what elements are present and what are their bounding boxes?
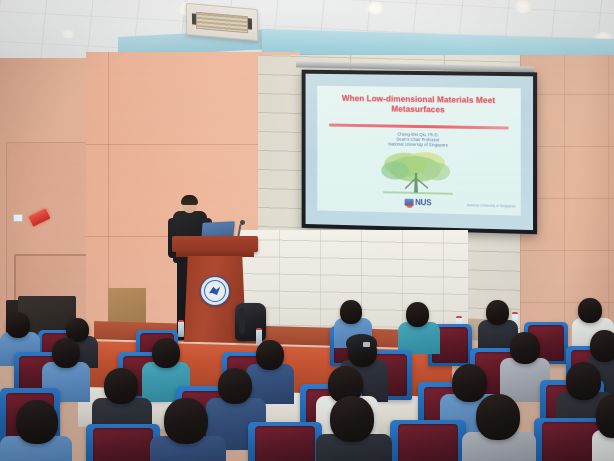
slide-corner-note: National University of Singapore <box>467 203 516 208</box>
nus-logo-text: NUS <box>415 198 431 207</box>
attendee-head <box>52 338 80 368</box>
attendee-head <box>406 302 429 327</box>
attendee-head <box>476 394 520 440</box>
attendee-head <box>218 368 252 404</box>
chair-cushion <box>398 424 459 461</box>
screen-surface: When Low-dimensional Materials Meet Meta… <box>306 74 533 230</box>
water-bottle-icon <box>178 320 184 337</box>
university-emblem-icon <box>200 276 230 306</box>
ceiling-spotlight <box>60 30 76 38</box>
chair-cushion <box>255 426 314 461</box>
microphone-icon <box>240 220 245 225</box>
slide-divider-rule <box>329 124 509 130</box>
attendee-head <box>590 330 614 362</box>
attendee-head <box>164 398 208 444</box>
lecture-hall-photo: When Low-dimensional Materials Meet Meta… <box>0 0 614 461</box>
presentation-slide: When Low-dimensional Materials Meet Meta… <box>317 86 521 216</box>
auditorium-chair <box>390 420 466 461</box>
chair-cushion <box>93 428 152 461</box>
cap-logo <box>363 342 370 347</box>
backpack-strap <box>239 308 245 334</box>
attendee-head <box>152 338 180 368</box>
baseball-cap-icon <box>346 334 377 352</box>
ceiling-spotlight <box>512 0 534 13</box>
auditorium-chair <box>86 424 160 461</box>
attendee-head <box>452 364 487 402</box>
ceiling-air-conditioner-icon <box>186 3 259 41</box>
attendee-head <box>340 300 362 324</box>
lectern-lip <box>176 250 254 257</box>
attendee-head <box>578 298 602 323</box>
tree-illustration-icon <box>375 148 461 198</box>
attendee-head <box>6 312 30 338</box>
ac-vent <box>192 13 196 24</box>
wall-plate <box>13 214 23 222</box>
attendee-head <box>330 396 374 442</box>
presenter-hair <box>181 195 198 205</box>
nus-logo: NUS <box>405 198 432 208</box>
attendee-head <box>256 340 284 370</box>
attendee-head <box>104 368 138 404</box>
attendee-head <box>510 332 540 364</box>
attendee-head <box>486 300 509 325</box>
auditorium-chair <box>248 422 322 461</box>
ceiling-spotlight <box>364 2 386 14</box>
attendee-head <box>566 362 601 400</box>
slide-title: When Low-dimensional Materials Meet Meta… <box>323 94 515 116</box>
projection-screen: When Low-dimensional Materials Meet Meta… <box>302 70 537 235</box>
ac-grille <box>196 12 248 34</box>
attendee-head <box>16 400 58 444</box>
nus-logo-mark-icon <box>405 199 414 206</box>
ac-vent <box>248 18 252 29</box>
